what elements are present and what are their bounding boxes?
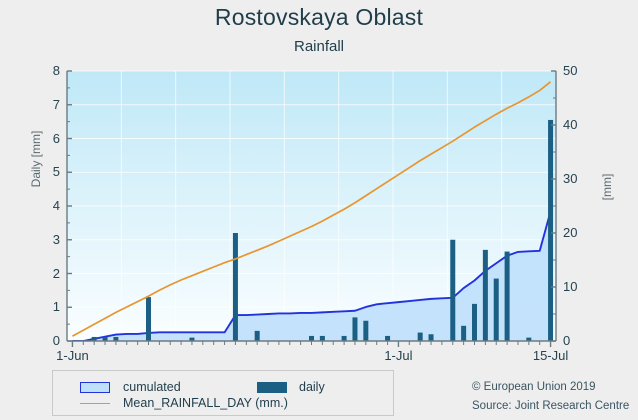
legend-label-cumulated[interactable]: cumulated [123, 380, 181, 394]
legend: cumulated daily Mean_RAINFALL_DAY (mm.) [52, 370, 394, 416]
plot-area [0, 0, 638, 420]
daily-bar [450, 240, 455, 341]
daily-bar [146, 297, 151, 341]
rainfall-chart: Rostovskaya Oblast Rainfall Daily [mm] [… [0, 0, 638, 420]
daily-bar [483, 250, 488, 341]
daily-bar [494, 279, 499, 341]
daily-bar [320, 336, 325, 341]
daily-bar [363, 321, 368, 341]
credit-source: Source: Joint Research Centre [472, 400, 629, 412]
legend-swatch-mean-line [80, 403, 110, 404]
daily-bar [309, 336, 314, 341]
daily-bar [505, 252, 510, 341]
daily-bar [255, 331, 260, 341]
daily-bar [418, 333, 423, 341]
daily-bar [548, 120, 553, 341]
daily-bar [429, 334, 434, 341]
daily-bar [472, 304, 477, 341]
daily-bar [233, 233, 238, 341]
daily-bar [342, 336, 347, 341]
legend-swatch-cumulated [80, 382, 110, 393]
daily-bar [385, 336, 390, 341]
daily-bar [352, 317, 357, 341]
legend-label-mean[interactable]: Mean_RAINFALL_DAY (mm.) [123, 396, 288, 410]
legend-swatch-daily [257, 382, 287, 393]
daily-bar [461, 326, 466, 341]
credit-copyright: © European Union 2019 [472, 381, 596, 393]
legend-label-daily[interactable]: daily [299, 380, 325, 394]
